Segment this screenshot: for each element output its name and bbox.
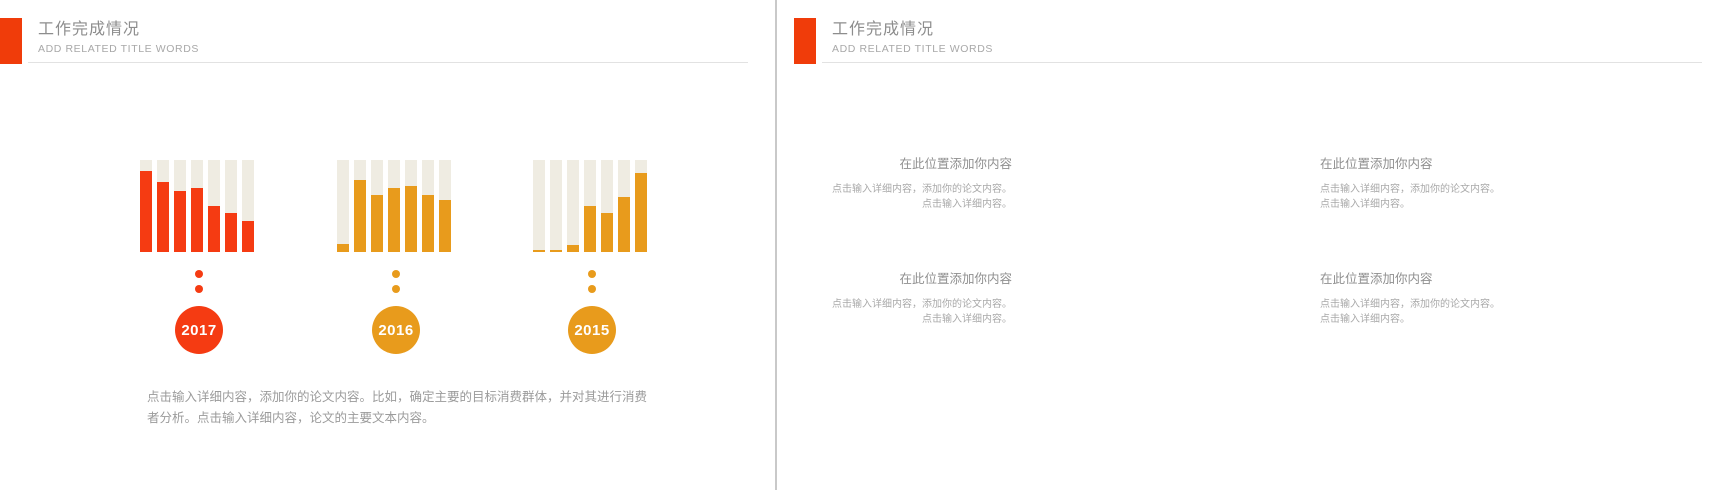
bar-group-bars <box>140 160 258 252</box>
connector-dots <box>533 270 651 293</box>
header-divider-right <box>822 62 1702 63</box>
bar-track <box>405 160 417 252</box>
bar-fill <box>422 195 434 252</box>
bar-track <box>550 160 562 252</box>
swot-text-body: 点击输入详细内容，添加你的论文内容。点击输入详细内容。 <box>1320 297 1505 327</box>
bar-track <box>533 160 545 252</box>
bar-track <box>157 160 169 252</box>
bar-track <box>371 160 383 252</box>
bar-track <box>618 160 630 252</box>
bar-track <box>354 160 366 252</box>
swot-text-heading: 在此位置添加你内容 <box>1320 155 1505 173</box>
bar-track <box>388 160 400 252</box>
connector-dot <box>195 285 203 293</box>
connector-dot <box>392 285 400 293</box>
slide-header-right: 工作完成情况 ADD RELATED TITLE WORDS <box>794 18 993 64</box>
header-divider-left <box>28 62 748 63</box>
bar-fill <box>635 173 647 252</box>
bar-track <box>439 160 451 252</box>
page-title: 工作完成情况 <box>832 19 993 39</box>
bar-fill <box>225 213 237 252</box>
bar-track <box>584 160 596 252</box>
bar-fill <box>533 250 545 252</box>
bar-track <box>635 160 647 252</box>
header-accent-mark <box>0 18 22 64</box>
slide-deck: 工作完成情况 ADD RELATED TITLE WORDS 201720162… <box>0 0 1720 490</box>
swot-text-block-2: 在此位置添加你内容点击输入详细内容，添加你的论文内容。点击输入详细内容。 <box>1320 155 1505 212</box>
connector-dot <box>588 285 596 293</box>
bar-fill <box>242 221 254 252</box>
bar-track <box>191 160 203 252</box>
slide-right: 工作完成情况 ADD RELATED TITLE WORDS S O <box>777 0 1720 490</box>
year-badge-2015[interactable]: 2015 <box>568 306 616 354</box>
bar-group-bars <box>337 160 455 252</box>
swot-text-heading: 在此位置添加你内容 <box>827 155 1012 173</box>
connector-dots <box>140 270 258 293</box>
swot-text-body: 点击输入详细内容，添加你的论文内容。点击输入详细内容。 <box>1320 182 1505 212</box>
connector-dot <box>588 270 596 278</box>
bar-track <box>242 160 254 252</box>
bar-fill <box>191 188 203 252</box>
slide-left: 工作完成情况 ADD RELATED TITLE WORDS 201720162… <box>0 0 775 490</box>
bar-chart-group-2017: 2017 <box>140 160 258 354</box>
bar-track <box>225 160 237 252</box>
page-title: 工作完成情况 <box>38 19 199 39</box>
bar-fill <box>388 188 400 252</box>
bar-fill <box>208 206 220 252</box>
swot-text-body: 点击输入详细内容，添加你的论文内容。点击输入详细内容。 <box>827 182 1012 212</box>
bar-fill <box>337 244 349 252</box>
swot-text-block-1: 在此位置添加你内容点击输入详细内容，添加你的论文内容。点击输入详细内容。 <box>827 155 1012 212</box>
slide-header-left: 工作完成情况 ADD RELATED TITLE WORDS <box>0 18 199 64</box>
bar-fill <box>567 245 579 252</box>
swot-text-body: 点击输入详细内容，添加你的论文内容。点击输入详细内容。 <box>827 297 1012 327</box>
bar-track <box>174 160 186 252</box>
bar-fill <box>140 171 152 252</box>
header-accent-mark <box>794 18 816 64</box>
bar-fill <box>439 200 451 252</box>
bar-track <box>567 160 579 252</box>
page-subtitle: ADD RELATED TITLE WORDS <box>38 42 199 56</box>
connector-dot <box>195 270 203 278</box>
connector-dots <box>337 270 455 293</box>
bar-fill <box>405 186 417 252</box>
bar-chart-group-2016: 2016 <box>337 160 455 354</box>
year-badge-2017[interactable]: 2017 <box>175 306 223 354</box>
swot-text-heading: 在此位置添加你内容 <box>827 270 1012 288</box>
bar-group-bars <box>533 160 651 252</box>
year-badge-2016[interactable]: 2016 <box>372 306 420 354</box>
bar-track <box>208 160 220 252</box>
bar-fill <box>371 195 383 252</box>
bar-track <box>422 160 434 252</box>
bar-fill <box>618 197 630 252</box>
bar-chart-group-2015: 2015 <box>533 160 651 354</box>
bar-track <box>140 160 152 252</box>
swot-text-heading: 在此位置添加你内容 <box>1320 270 1505 288</box>
connector-dot <box>392 270 400 278</box>
bar-fill <box>601 213 613 252</box>
bar-fill <box>550 250 562 252</box>
page-subtitle: ADD RELATED TITLE WORDS <box>832 42 993 56</box>
bar-track <box>337 160 349 252</box>
bar-fill <box>584 206 596 252</box>
swot-text-block-3: 在此位置添加你内容点击输入详细内容，添加你的论文内容。点击输入详细内容。 <box>827 270 1012 327</box>
left-body-paragraph: 点击输入详细内容，添加你的论文内容。比如，确定主要的目标消费群体，并对其进行消费… <box>147 386 647 428</box>
bar-fill <box>157 182 169 252</box>
bar-fill <box>354 180 366 252</box>
swot-text-block-4: 在此位置添加你内容点击输入详细内容，添加你的论文内容。点击输入详细内容。 <box>1320 270 1505 327</box>
bar-fill <box>174 191 186 252</box>
bar-track <box>601 160 613 252</box>
